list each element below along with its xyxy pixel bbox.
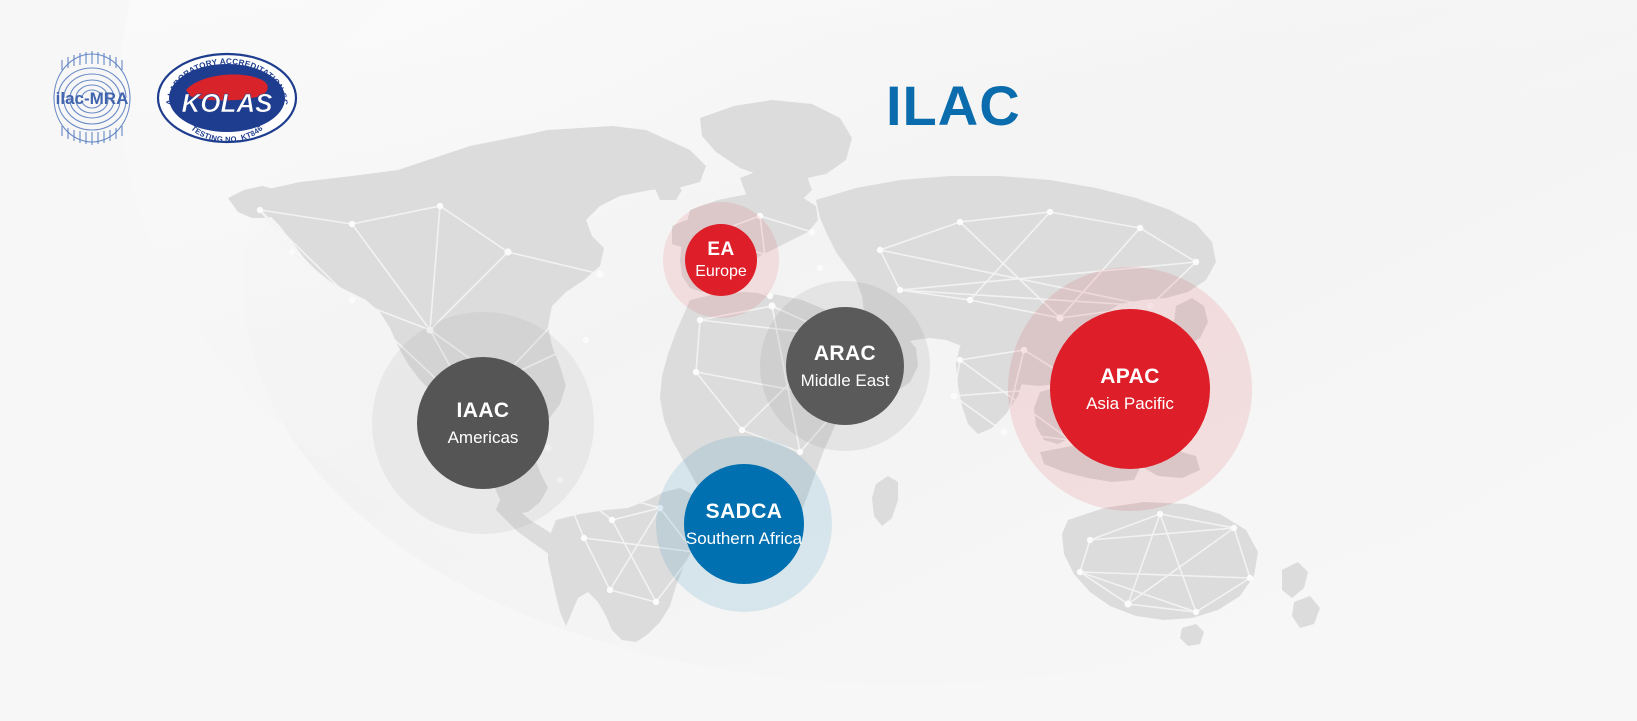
region-label-iaac: Americas <box>448 428 519 447</box>
region-core-ea[interactable]: EA Europe <box>685 224 757 296</box>
region-label-ea: Europe <box>695 263 747 281</box>
kolas-logo: KOREA LABORATORY ACCREDITATION SCHEME KO… <box>156 52 298 144</box>
region-bubble-ea[interactable]: EA Europe <box>663 202 779 318</box>
region-core-iaac[interactable]: IAAC Americas <box>417 357 549 489</box>
ilac-mra-wordmark: ilac-MRA <box>56 89 129 108</box>
region-bubble-apac[interactable]: APAC Asia Pacific <box>1008 267 1252 511</box>
region-abbr-arac: ARAC <box>814 342 876 366</box>
kolas-wordmark: KOLAS <box>182 88 274 118</box>
region-abbr-iaac: IAAC <box>457 399 510 423</box>
region-abbr-sadca: SADCA <box>706 500 783 524</box>
region-abbr-ea: EA <box>707 239 734 260</box>
ilac-regional-map: ilac-MRA KOREA LABORATORY ACCREDITATION … <box>0 0 1637 721</box>
region-label-arac: Middle East <box>801 371 890 390</box>
region-bubble-iaac[interactable]: IAAC Americas <box>372 312 594 534</box>
region-abbr-apac: APAC <box>1100 365 1160 389</box>
ilac-mra-logo: ilac-MRA <box>48 48 136 148</box>
region-bubble-arac[interactable]: ARAC Middle East <box>760 281 930 451</box>
region-label-apac: Asia Pacific <box>1086 394 1174 413</box>
region-core-sadca[interactable]: SADCA Southern Africa <box>684 464 804 584</box>
region-core-apac[interactable]: APAC Asia Pacific <box>1050 309 1210 469</box>
region-label-sadca: Southern Africa <box>686 529 802 548</box>
accreditation-logos: ilac-MRA KOREA LABORATORY ACCREDITATION … <box>48 48 298 148</box>
ilac-wordmark: ILAC <box>886 78 1021 134</box>
region-core-arac[interactable]: ARAC Middle East <box>786 307 904 425</box>
region-bubble-sadca[interactable]: SADCA Southern Africa <box>656 436 832 612</box>
